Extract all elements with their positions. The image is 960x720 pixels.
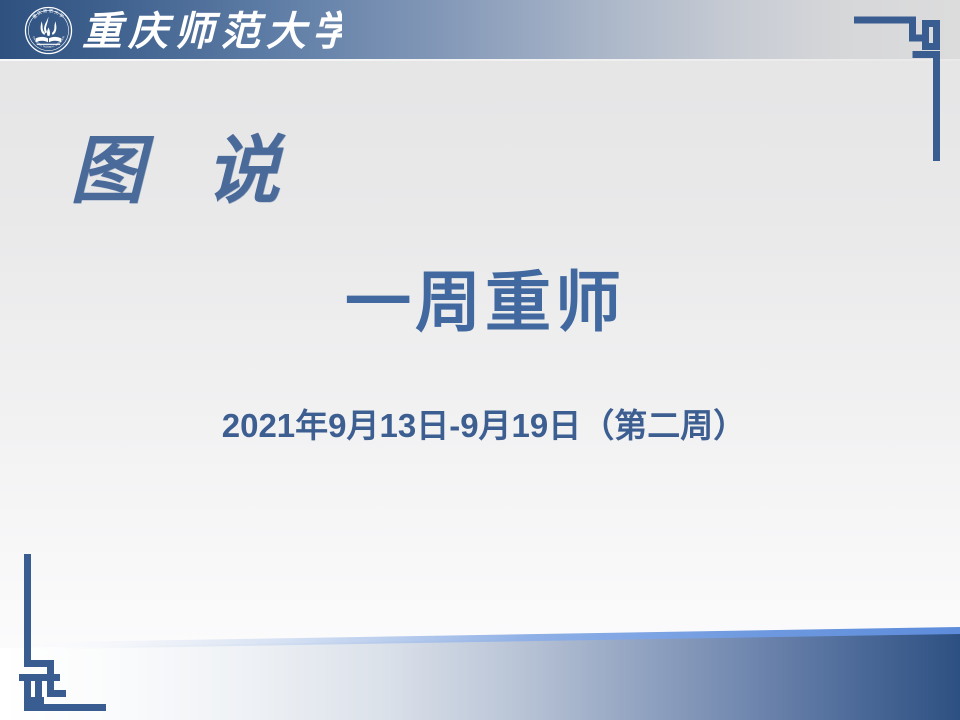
eyebrow-title: 图 说 <box>70 134 298 208</box>
meander-ornament-graphic-tr <box>854 6 944 164</box>
bottom-left-corner-ornament <box>14 554 110 712</box>
university-name: 重庆师范大学 <box>82 2 342 57</box>
date-range-subtitle: 2021年9月13日-9月19日（第二周） <box>0 408 960 444</box>
university-name-graphic: 重庆师范大学 <box>82 2 342 57</box>
bottom-decorative-band <box>0 610 960 720</box>
page-title: 一周重师 <box>0 268 960 337</box>
university-seal-graphic: 重庆师范大学 CHONGQING NORMAL UNIVERSITY <box>24 6 73 55</box>
university-seal-icon: 重庆师范大学 CHONGQING NORMAL UNIVERSITY <box>24 6 73 55</box>
presentation-slide: 重庆师范大学 CHONGQING NORMAL UNIVERSITY <box>0 0 960 720</box>
university-name-text: 重庆师范大学 <box>82 8 342 55</box>
svg-text:重庆师范大学: 重庆师范大学 <box>31 7 66 20</box>
header-divider <box>0 59 960 61</box>
bottom-band-graphic <box>0 610 960 720</box>
top-right-corner-ornament <box>854 6 944 164</box>
meander-ornament-graphic-bl <box>14 554 110 712</box>
